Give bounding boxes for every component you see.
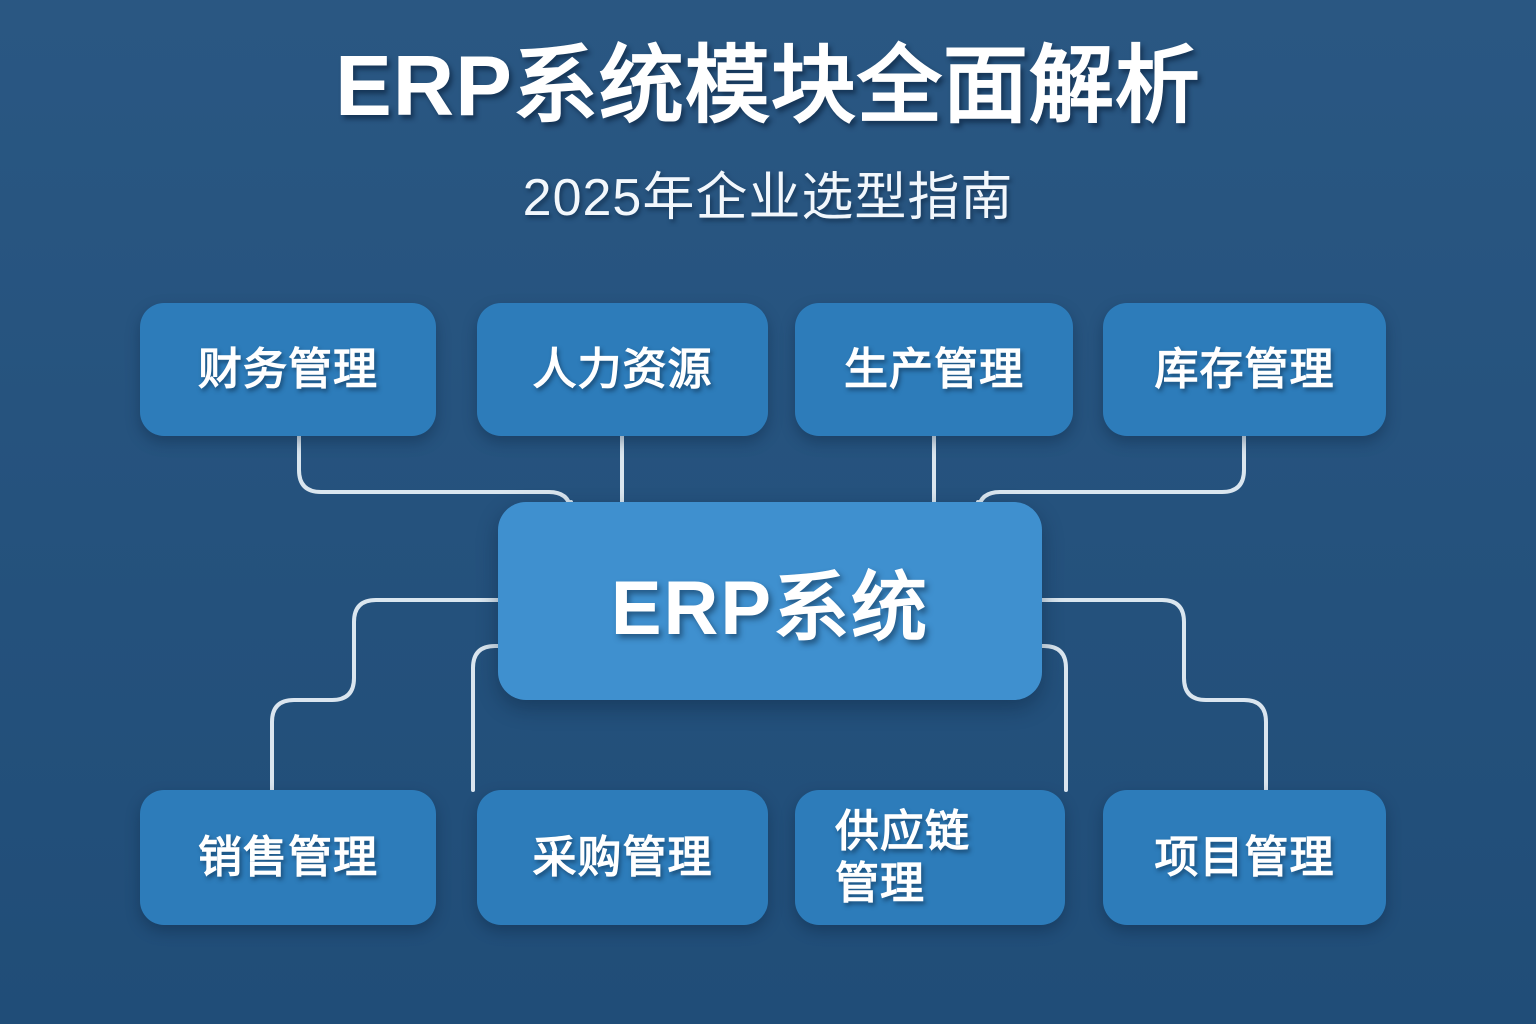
center-node-erp[interactable]: ERP系统	[498, 502, 1042, 700]
module-node-purchase[interactable]: 采购管理	[477, 790, 768, 925]
module-node-finance[interactable]: 财务管理	[140, 303, 436, 436]
module-node-hr[interactable]: 人力资源	[477, 303, 768, 436]
edge-supplychain-to-erp	[1042, 646, 1066, 790]
diagram-canvas: ERP系统模块全面解析 2025年企业选型指南 财务管理 人力资源 生产管理 库…	[0, 0, 1536, 1024]
module-node-project[interactable]: 项目管理	[1103, 790, 1386, 925]
module-node-supplychain[interactable]: 供应链 管理	[795, 790, 1065, 925]
module-label-production: 生产管理	[844, 344, 1024, 396]
module-label-hr: 人力资源	[533, 344, 713, 396]
edge-project-to-erp	[1042, 600, 1266, 790]
module-label-sales: 销售管理	[198, 832, 378, 884]
module-node-production[interactable]: 生产管理	[795, 303, 1073, 436]
module-node-sales[interactable]: 销售管理	[140, 790, 436, 925]
module-label-supplychain: 供应链 管理	[835, 806, 970, 910]
module-node-inventory[interactable]: 库存管理	[1103, 303, 1386, 436]
edge-purchase-to-erp	[473, 646, 498, 790]
module-label-inventory: 库存管理	[1155, 344, 1335, 396]
center-node-label: ERP系统	[611, 546, 929, 656]
module-label-purchase: 采购管理	[533, 832, 713, 884]
module-label-project: 项目管理	[1155, 832, 1335, 884]
module-label-finance: 财务管理	[198, 344, 378, 396]
edge-sales-to-erp	[272, 600, 498, 790]
